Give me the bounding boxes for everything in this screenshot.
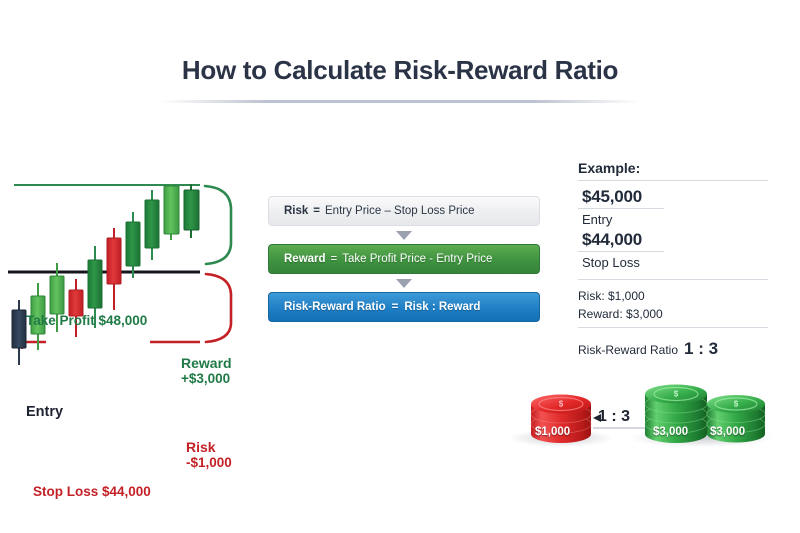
- formula-risk-term: Risk: [284, 205, 308, 217]
- reward-annotation-amount: +$3,000: [181, 371, 232, 387]
- svg-text:$: $: [559, 400, 564, 409]
- risk-bracket: [206, 274, 231, 342]
- example-entry-underline: [578, 208, 664, 209]
- example-divider-top: [578, 180, 768, 181]
- coin-comparison: $ $ $: [505, 380, 790, 460]
- example-stop-loss-value: $44,000: [578, 230, 768, 250]
- chevron-down-icon: [396, 279, 412, 288]
- risk-annotation-amount: -$1,000: [186, 455, 232, 471]
- formula-reward-equals: =: [326, 253, 343, 265]
- coin-ratio-label: 1 : 3: [598, 408, 630, 426]
- formula-risk-expression: Entry Price – Stop Loss Price: [325, 205, 475, 217]
- example-stop-loss-underline: [578, 251, 664, 252]
- chevron-down-icon: [396, 231, 412, 240]
- formula-box-risk: Risk = Entry Price – Stop Loss Price: [268, 196, 540, 226]
- candlestick-chart-panel: Take Profit $48,000 Entry Stop Loss $44,…: [0, 150, 260, 375]
- svg-text:$: $: [674, 390, 679, 399]
- example-stop-loss-caption: Stop Loss: [578, 255, 768, 273]
- formula-ratio-equals: =: [386, 301, 405, 313]
- example-heading: Example:: [578, 160, 768, 180]
- take-profit-label: Take Profit $48,000: [26, 313, 147, 328]
- flow-arrow-1: [268, 226, 540, 244]
- formula-reward-expression: Take Profit Price - Entry Price: [342, 253, 492, 265]
- formula-reward-term: Reward: [284, 253, 326, 265]
- page-title: How to Calculate Risk-Reward Ratio: [0, 55, 800, 86]
- example-ratio-row: Risk-Reward Ratio 1 : 3: [578, 334, 768, 359]
- stop-loss-label: Stop Loss $44,000: [33, 484, 151, 499]
- example-risk-line: Risk: $1,000: [578, 286, 768, 304]
- example-panel: Example: $45,000 Entry $44,000 Stop Loss…: [578, 160, 768, 359]
- example-reward-line: Reward: $3,000: [578, 304, 768, 322]
- reward-bracket: [205, 186, 231, 264]
- example-ratio-value: 1 : 3: [684, 339, 718, 359]
- title-block: How to Calculate Risk-Reward Ratio: [0, 55, 800, 86]
- coin-amount-reward-2: $3,000: [710, 426, 745, 438]
- formula-box-reward: Reward = Take Profit Price - Entry Price: [268, 244, 540, 274]
- formula-risk-equals: =: [308, 205, 325, 217]
- formula-box-ratio: Risk-Reward Ratio = Risk : Reward: [268, 292, 540, 322]
- title-divider: [160, 100, 640, 103]
- formula-flow: Risk = Entry Price – Stop Loss Price Rew…: [268, 196, 540, 322]
- reward-annotation-title: Reward: [181, 355, 232, 371]
- example-divider-bottom: [578, 327, 768, 328]
- reward-annotation: Reward +$3,000: [181, 355, 232, 387]
- formula-ratio-expression: Risk : Reward: [404, 301, 480, 313]
- candle-series: [12, 184, 199, 365]
- formula-ratio-term: Risk-Reward Ratio: [284, 301, 386, 313]
- risk-annotation-title: Risk: [186, 439, 216, 455]
- svg-text:$: $: [734, 400, 739, 409]
- example-entry-value: $45,000: [578, 187, 768, 207]
- example-entry-caption: Entry: [578, 212, 768, 230]
- example-divider-mid: [578, 279, 768, 280]
- coin-amount-risk: $1,000: [535, 426, 570, 438]
- candlestick-chart-svg: [0, 150, 260, 375]
- risk-annotation: Risk -$1,000: [186, 439, 232, 471]
- coin-amount-reward-1: $3,000: [653, 426, 688, 438]
- infographic-canvas: How to Calculate Risk-Reward Ratio: [0, 0, 800, 533]
- entry-label: Entry: [26, 404, 63, 420]
- example-ratio-label: Risk-Reward Ratio: [578, 343, 678, 357]
- flow-arrow-2: [268, 274, 540, 292]
- coin-stacks-svg: $ $ $: [505, 380, 790, 460]
